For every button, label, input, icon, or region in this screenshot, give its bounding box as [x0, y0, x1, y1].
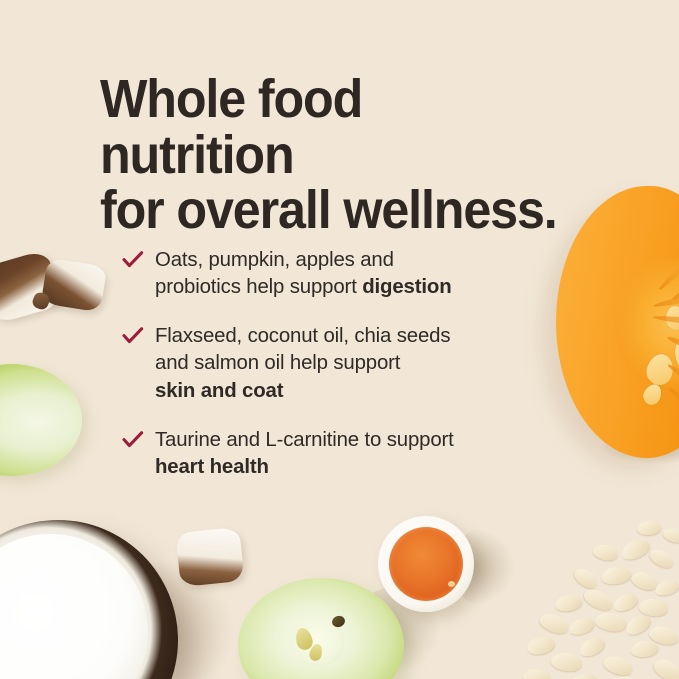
list-item-emphasis: skin and coat: [155, 378, 572, 405]
promo-graphic: Whole food nutrition for overall wellnes…: [0, 0, 679, 679]
check-icon: [122, 431, 144, 449]
coconut-half-image: [0, 520, 178, 679]
oil-highlight: [448, 581, 455, 587]
page-title: Whole food nutrition for overall wellnes…: [100, 72, 565, 239]
rolled-oats-image: [521, 511, 679, 679]
oil-dish-image: [378, 516, 474, 612]
benefits-list: Oats, pumpkin, apples and probiotics hel…: [122, 247, 572, 481]
apple-slice-image: [0, 364, 82, 476]
list-item-line: Oats, pumpkin, apples and: [155, 247, 572, 274]
pumpkin-half-image: [556, 186, 679, 458]
coconut-flesh: [0, 534, 148, 679]
list-item-line: Taurine and L-carnitine to support: [155, 427, 572, 454]
coconut-chunk-image: [175, 527, 244, 587]
check-icon: [122, 327, 144, 345]
list-item: Taurine and L-carnitine to support heart…: [122, 427, 572, 481]
list-item-emphasis: heart health: [155, 454, 572, 481]
list-item-emphasis: digestion: [362, 276, 451, 298]
list-item-line: Flaxseed, coconut oil, chia seeds: [155, 323, 572, 350]
check-icon: [122, 251, 144, 269]
oil-liquid: [389, 527, 463, 601]
list-item: Flaxseed, coconut oil, chia seeds and sa…: [122, 323, 572, 404]
list-item-line: and salmon oil help support: [155, 350, 572, 377]
list-item-line: probiotics help support: [155, 276, 362, 298]
list-item: Oats, pumpkin, apples and probiotics hel…: [122, 247, 572, 301]
